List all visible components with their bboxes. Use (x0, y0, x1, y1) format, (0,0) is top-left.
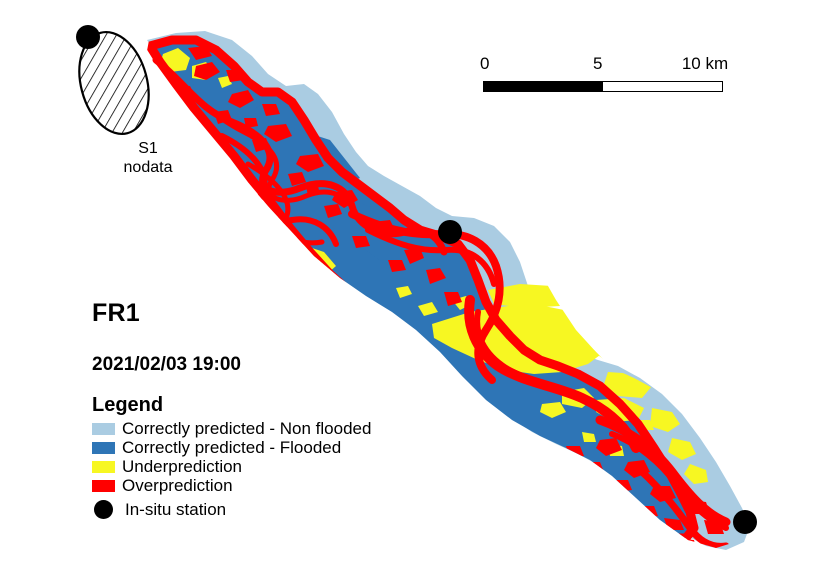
in-situ-station-upstream (76, 25, 100, 49)
legend-item-correct-non-flooded: Correctly predicted - Non flooded (92, 419, 371, 438)
scale-bar-segment-empty (603, 82, 722, 91)
legend-label-correct-non-flooded: Correctly predicted - Non flooded (122, 419, 371, 438)
scale-tick-0: 0 (480, 55, 489, 72)
in-situ-station-downstream (733, 510, 757, 534)
legend-label-correct-flooded: Correctly predicted - Flooded (122, 438, 341, 457)
legend: Correctly predicted - Non flooded Correc… (92, 419, 371, 521)
legend-item-in-situ-station: In-situ station (92, 497, 371, 521)
in-situ-station-midstream (438, 220, 462, 244)
scale-bar: 0 5 10 km (480, 55, 726, 77)
map-figure: S1 nodata 0 5 10 km FR1 2021/02/03 19:00… (0, 0, 830, 587)
legend-item-correct-flooded: Correctly predicted - Flooded (92, 438, 371, 457)
legend-swatch-correct-flooded (92, 442, 115, 454)
scale-bar-graphic (483, 81, 723, 92)
legend-label-in-situ-station: In-situ station (125, 500, 226, 519)
scale-tick-10: 10 km (682, 55, 728, 72)
s1-nodata-label: S1 nodata (103, 139, 193, 177)
s1-nodata-line2: nodata (103, 158, 193, 177)
s1-nodata-line1: S1 (103, 139, 193, 158)
scale-bar-ticks: 0 5 10 km (480, 55, 726, 77)
legend-swatch-correct-non-flooded (92, 423, 115, 435)
legend-heading: Legend (92, 394, 371, 417)
legend-label-underprediction: Underprediction (122, 457, 242, 476)
legend-swatch-in-situ-station (94, 500, 113, 519)
scale-bar-segment-filled (484, 82, 603, 91)
legend-item-underprediction: Underprediction (92, 457, 371, 476)
legend-item-overprediction: Overprediction (92, 476, 371, 495)
legend-swatch-underprediction (92, 461, 115, 473)
station-marker-icon (92, 497, 115, 521)
map-datetime: 2021/02/03 19:00 (92, 354, 371, 376)
legend-swatch-overprediction (92, 480, 115, 492)
info-panel: FR1 2021/02/03 19:00 Legend Correctly pr… (92, 299, 371, 521)
legend-label-overprediction: Overprediction (122, 476, 233, 495)
page-title: FR1 (92, 299, 371, 327)
scale-tick-5: 5 (593, 55, 602, 72)
